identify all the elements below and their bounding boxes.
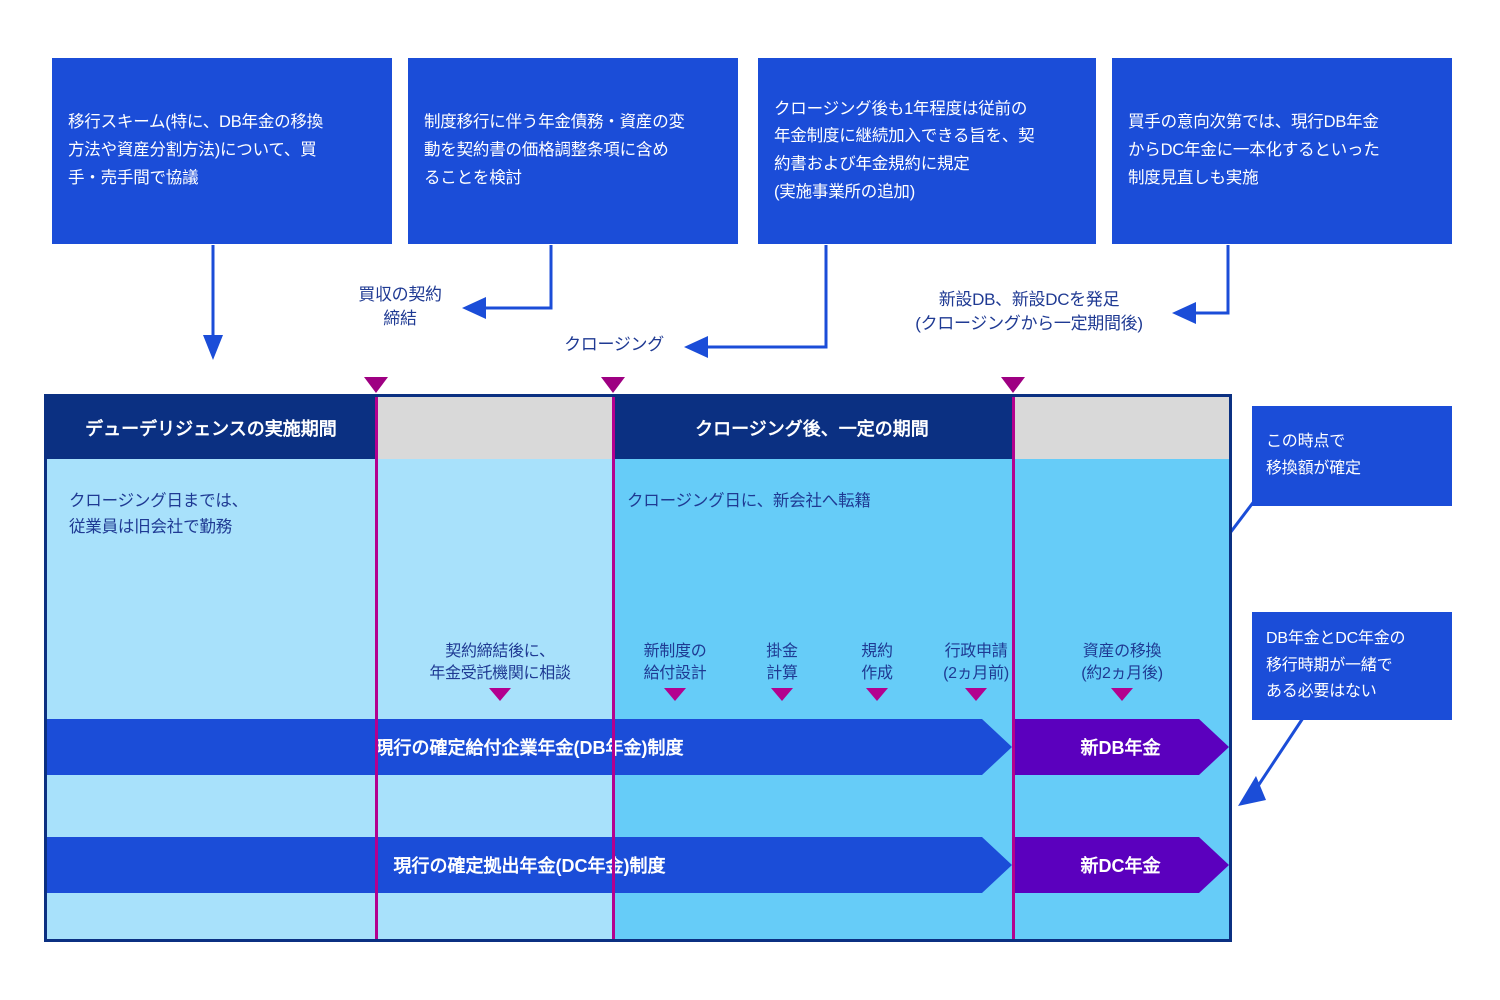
milestone-label-signing: 買収の契約 締結 bbox=[330, 283, 470, 331]
phase-bar-due-diligence: デューデリジェンスの実施期間 bbox=[47, 397, 375, 459]
task-label: 規約 作成 bbox=[861, 643, 892, 682]
task-new-benefit-design: 新制度の 給付設計 bbox=[619, 619, 731, 723]
side-note-transfer-amount: この時点で 移換額が確定 bbox=[1252, 406, 1452, 506]
down-triangle-icon bbox=[866, 688, 888, 701]
task-label: 新制度の 給付設計 bbox=[644, 643, 707, 682]
down-triangle-icon bbox=[771, 688, 793, 701]
down-triangle-icon bbox=[965, 688, 987, 701]
task-label: 契約締結後に、 年金受託機関に相談 bbox=[429, 643, 570, 682]
note-box-buyer-intent: 買手の意向次第では、現行DB年金 からDC年金に一本化するといった 制度見直しも… bbox=[1112, 58, 1452, 244]
task-label: 資産の移換 (約2ヵ月後) bbox=[1081, 643, 1162, 682]
side-note-timing-independence: DB年金とDC年金の 移行時期が一緒で ある必要はない bbox=[1252, 612, 1452, 720]
pension-bar-new-db: 新DB年金 bbox=[1012, 719, 1229, 775]
timeline-frame: デューデリジェンスの実施期間 クロージング後、一定の期間 クロージング日までは、… bbox=[44, 394, 1232, 942]
diagram-canvas: 移行スキーム(特に、DB年金の移換 方法や資産分割方法)について、買 手・売手間… bbox=[0, 0, 1500, 1000]
marker-triangle-closing bbox=[601, 377, 625, 393]
divider-launch bbox=[1012, 397, 1015, 939]
down-triangle-icon bbox=[664, 688, 686, 701]
pension-bar-current-db: 現行の確定給付企業年金(DB年金)制度 bbox=[47, 719, 1012, 775]
note-box-transfer-scheme: 移行スキーム(特に、DB年金の移換 方法や資産分割方法)について、買 手・売手間… bbox=[52, 58, 392, 244]
task-label: 行政申請 (2ヵ月前) bbox=[943, 643, 1009, 682]
task-admin-application: 行政申請 (2ヵ月前) bbox=[915, 619, 1037, 723]
task-label: 掛金 計算 bbox=[766, 643, 797, 682]
milestone-label-closing: クロージング bbox=[540, 333, 688, 357]
divider-signing bbox=[375, 397, 378, 939]
note-box-price-adjustment: 制度移行に伴う年金債務・資産の変 動を契約書の価格調整条項に含め ることを検討 bbox=[408, 58, 738, 244]
pension-bar-new-dc: 新DC年金 bbox=[1012, 837, 1229, 893]
down-triangle-icon bbox=[489, 688, 511, 701]
timeline-text-transfer-on-closing: クロージング日に、新会社へ転籍 bbox=[627, 489, 1027, 515]
task-rules-drafting: 規約 作成 bbox=[835, 619, 919, 723]
task-contribution-calc: 掛金 計算 bbox=[739, 619, 825, 723]
timeline-text-until-closing: クロージング日までは、 従業員は旧会社で勤務 bbox=[69, 489, 369, 540]
note-box-post-closing-membership: クロージング後も1年程度は従前の 年金制度に継続加入できる旨を、契 約書および年… bbox=[758, 58, 1096, 244]
milestone-label-new-db-dc-launch: 新設DB、新設DCを発足 (クロージングから一定期間後) bbox=[885, 288, 1173, 336]
task-asset-transfer: 資産の移換 (約2ヵ月後) bbox=[1047, 619, 1197, 723]
divider-closing bbox=[612, 397, 615, 939]
marker-triangle-signing bbox=[364, 377, 388, 393]
phase-bar-post-closing: クロージング後、一定の期間 bbox=[612, 397, 1012, 459]
marker-triangle-launch bbox=[1001, 377, 1025, 393]
pension-bar-current-dc: 現行の確定拠出年金(DC年金)制度 bbox=[47, 837, 1012, 893]
down-triangle-icon bbox=[1111, 688, 1133, 701]
task-consult-trustee: 契約締結後に、 年金受託機関に相談 bbox=[395, 619, 605, 723]
